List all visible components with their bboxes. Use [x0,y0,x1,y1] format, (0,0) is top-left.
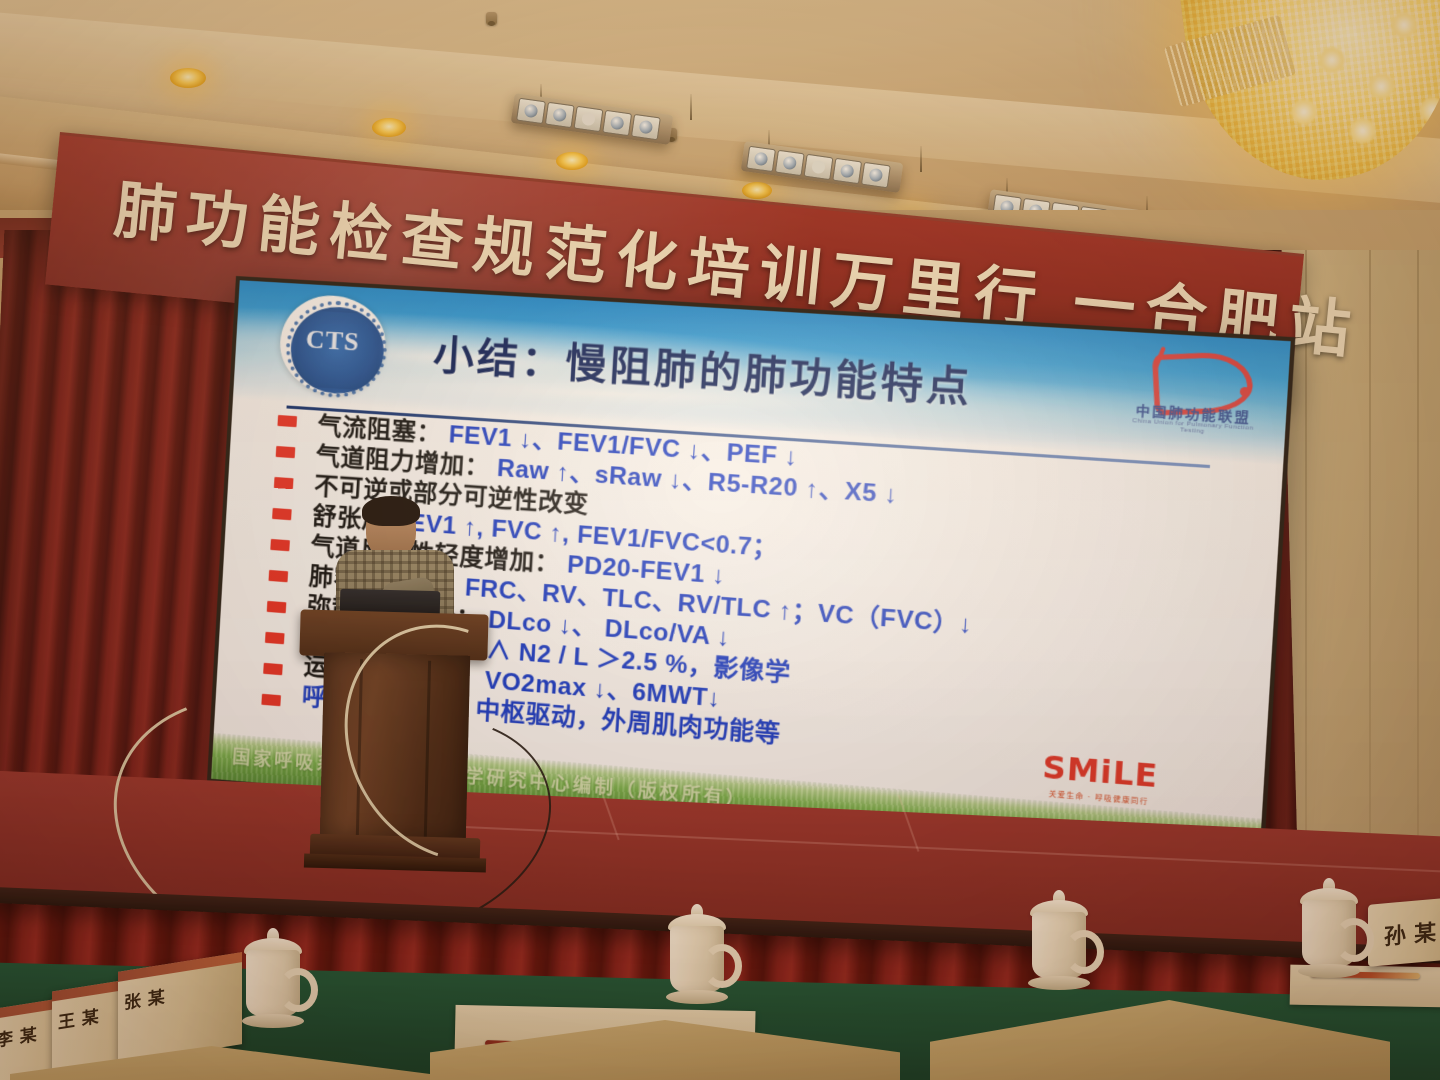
spotlight-cell [861,161,891,188]
spotlight-cell [516,97,546,124]
name-tent-card: 张 某 [118,952,242,1064]
ceiling-downlight [556,152,588,170]
conference-hall-photo: 肺功能检查规范化培训万里行 一合肥站 CTS 中国肺功能联盟 China Uni… [0,0,1440,1080]
spotlight-hanger [690,94,692,120]
slide-bullet-markers [260,415,302,727]
fire-sprinkler-icon [486,12,497,25]
bullet-square [272,508,292,520]
ceiling-downlight [372,118,406,137]
bullet-square [274,477,294,489]
bullet-square [270,539,290,551]
name-tent-text: 李 某 [0,1020,38,1052]
spotlight-hanger [920,146,922,172]
teacup [236,930,310,1034]
smile-logo: SMiLE 关爱生命 · 呼吸健康同行 [1041,750,1160,808]
smile-logo-word: SMiLE [1041,750,1159,796]
bullet-square [263,663,283,675]
bullet-square [267,601,287,613]
cts-logo-icon: CTS [277,293,387,398]
name-tent-card: 孙 某 [1368,895,1440,967]
teacup [1022,892,1096,996]
spotlight-cell [545,101,575,128]
teacup [1292,880,1366,984]
bullet-square [265,632,285,644]
teacup [660,906,734,1010]
bullet-square [269,570,289,582]
name-tent-text: 王 某 [58,1002,100,1034]
ceiling-downlight [742,182,772,199]
spotlight-cell [746,145,776,172]
bullet-square [276,446,296,458]
crystal-chandelier [1178,0,1440,196]
pulmonary-union-logo-icon: 中国肺功能联盟 China Union for Pulmonary Functi… [1119,346,1270,451]
spotlight-cell [631,113,661,140]
name-tent-text: 孙 某 [1384,915,1437,952]
ceiling-downlight [170,68,206,88]
presenter-hair [362,496,420,526]
spotlight-cell [775,149,805,176]
cts-logo-letters: CTS [280,323,386,359]
spotlight-cell [804,153,834,180]
spotlight-cell [574,105,604,132]
spotlight-cell [602,109,632,136]
name-tent-text: 张 某 [124,982,166,1014]
bullet-square [277,415,297,427]
spotlight-cell [832,157,862,184]
